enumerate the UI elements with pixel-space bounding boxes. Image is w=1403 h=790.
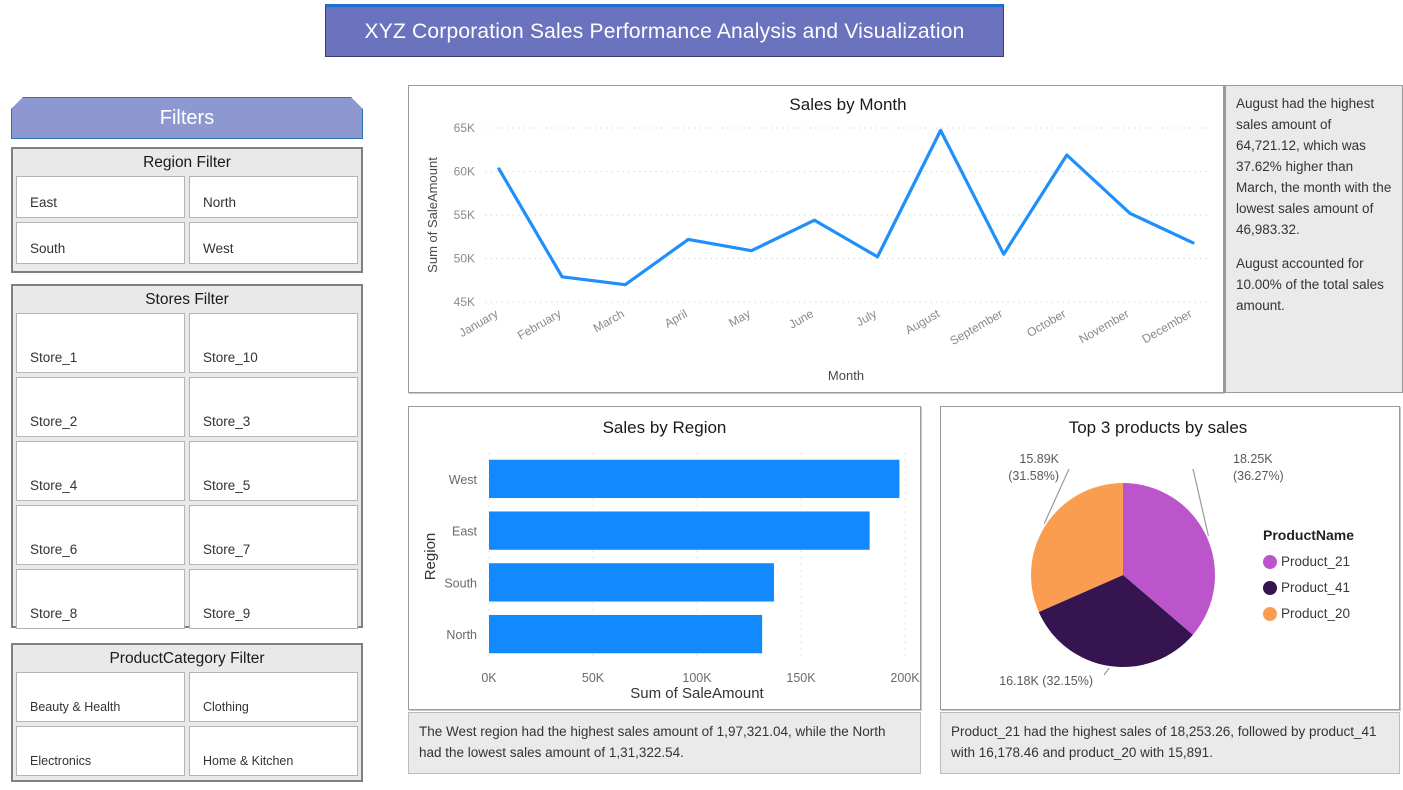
stores-filter-item-store-2[interactable]: Store_2 xyxy=(16,377,185,437)
stores-filter-panel: Stores Filter Store_1 Store_10 Store_2 S… xyxy=(11,284,363,628)
stores-filter-title: Stores Filter xyxy=(16,289,358,313)
sales-by-month-chart-panel[interactable]: Sales by Month45K50K55K60K65KJanuaryFebr… xyxy=(408,85,1224,393)
svg-text:May: May xyxy=(726,306,753,329)
sales-by-region-insight-text: The West region had the highest sales am… xyxy=(419,722,910,764)
sales-by-month-insight-paragraph-1: August had the highest sales amount of 6… xyxy=(1236,94,1392,240)
svg-text:ProductName: ProductName xyxy=(1263,527,1354,543)
svg-text:July: July xyxy=(854,306,879,329)
sales-by-month-insight-note: August had the highest sales amount of 6… xyxy=(1224,85,1403,393)
stores-filter-grid: Store_1 Store_10 Store_2 Store_3 Store_4… xyxy=(16,313,358,629)
product-category-filter-grid: Beauty & Health Clothing Electronics Hom… xyxy=(16,672,358,776)
stores-filter-item-store-4[interactable]: Store_4 xyxy=(16,441,185,501)
sales-by-region-insight-note: The West region had the highest sales am… xyxy=(408,712,921,774)
svg-text:65K: 65K xyxy=(454,121,475,135)
svg-text:East: East xyxy=(452,525,478,539)
svg-text:50K: 50K xyxy=(582,671,605,685)
svg-text:50K: 50K xyxy=(454,252,475,266)
top-products-insight-note: Product_21 had the highest sales of 18,2… xyxy=(940,712,1400,774)
svg-text:April: April xyxy=(662,306,690,330)
sales-by-month-insight-paragraph-2: August accounted for 10.00% of the total… xyxy=(1236,254,1392,317)
filters-header: Filters xyxy=(11,97,363,139)
stores-filter-item-store-5[interactable]: Store_5 xyxy=(189,441,358,501)
sales-by-region-chart-panel[interactable]: Sales by Region0K50K100K150K200KWestEast… xyxy=(408,406,921,710)
region-filter-item-south[interactable]: South xyxy=(16,222,185,264)
top-products-chart-panel[interactable]: Top 3 products by sales18.25K(36.27%)16.… xyxy=(940,406,1400,710)
product-category-filter-panel: ProductCategory Filter Beauty & Health C… xyxy=(11,643,363,782)
svg-text:150K: 150K xyxy=(786,671,816,685)
svg-text:December: December xyxy=(1140,306,1195,346)
svg-text:June: June xyxy=(786,306,816,331)
svg-text:August: August xyxy=(903,306,943,337)
sales-by-region-bar-chart[interactable]: Sales by Region0K50K100K150K200KWestEast… xyxy=(409,407,920,709)
svg-text:Product_41: Product_41 xyxy=(1281,580,1350,595)
svg-text:March: March xyxy=(591,306,627,335)
svg-text:October: October xyxy=(1024,306,1068,339)
svg-text:North: North xyxy=(446,628,477,642)
svg-text:Product_21: Product_21 xyxy=(1281,554,1350,569)
stores-filter-item-store-9[interactable]: Store_9 xyxy=(189,569,358,629)
svg-text:(31.58%): (31.58%) xyxy=(1008,469,1059,483)
stores-filter-item-store-6[interactable]: Store_6 xyxy=(16,505,185,565)
svg-text:60K: 60K xyxy=(454,165,475,179)
stores-filter-item-store-1[interactable]: Store_1 xyxy=(16,313,185,373)
top-products-insight-text: Product_21 had the highest sales of 18,2… xyxy=(951,722,1389,764)
dashboard-title-banner: XYZ Corporation Sales Performance Analys… xyxy=(325,4,1004,57)
region-filter-panel: Region Filter East North South West xyxy=(11,147,363,273)
svg-text:November: November xyxy=(1076,306,1131,346)
svg-text:15.89K: 15.89K xyxy=(1019,452,1059,466)
product-category-item-electronics[interactable]: Electronics xyxy=(16,726,185,776)
region-filter-item-west[interactable]: West xyxy=(189,222,358,264)
sales-by-month-line-chart[interactable]: Sales by Month45K50K55K60K65KJanuaryFebr… xyxy=(409,86,1223,392)
svg-text:55K: 55K xyxy=(454,208,475,222)
product-category-item-clothing[interactable]: Clothing xyxy=(189,672,358,722)
svg-text:200K: 200K xyxy=(890,671,920,685)
region-filter-grid: East North South West xyxy=(16,176,358,264)
stores-filter-item-store-3[interactable]: Store_3 xyxy=(189,377,358,437)
top-3-products-pie-chart[interactable]: Top 3 products by sales18.25K(36.27%)16.… xyxy=(941,407,1399,709)
svg-text:18.25K: 18.25K xyxy=(1233,452,1273,466)
svg-text:January: January xyxy=(457,306,501,339)
svg-text:South: South xyxy=(444,576,477,590)
svg-text:September: September xyxy=(947,306,1005,347)
page-title: XYZ Corporation Sales Performance Analys… xyxy=(365,20,965,44)
region-filter-title: Region Filter xyxy=(16,152,358,176)
svg-text:45K: 45K xyxy=(454,295,475,309)
svg-text:Sales by Region: Sales by Region xyxy=(603,418,727,437)
stores-filter-item-store-7[interactable]: Store_7 xyxy=(189,505,358,565)
stores-filter-item-store-10[interactable]: Store_10 xyxy=(189,313,358,373)
svg-text:Month: Month xyxy=(828,368,864,383)
svg-text:0K: 0K xyxy=(481,671,497,685)
svg-text:February: February xyxy=(515,306,564,342)
svg-text:Region: Region xyxy=(422,533,439,581)
product-category-filter-title: ProductCategory Filter xyxy=(16,648,358,672)
svg-text:Sales by Month: Sales by Month xyxy=(789,95,906,114)
svg-text:Sum of SaleAmount: Sum of SaleAmount xyxy=(630,685,764,702)
svg-text:(36.27%): (36.27%) xyxy=(1233,469,1284,483)
product-category-item-beauty-health[interactable]: Beauty & Health xyxy=(16,672,185,722)
svg-text:Product_20: Product_20 xyxy=(1281,606,1350,621)
filters-header-label: Filters xyxy=(160,107,214,130)
region-filter-item-north[interactable]: North xyxy=(189,176,358,218)
svg-text:Top 3 products by sales: Top 3 products by sales xyxy=(1069,418,1248,437)
svg-text:West: West xyxy=(449,473,478,487)
svg-text:16.18K (32.15%): 16.18K (32.15%) xyxy=(999,674,1093,688)
region-filter-item-east[interactable]: East xyxy=(16,176,185,218)
product-category-item-home-kitchen[interactable]: Home & Kitchen xyxy=(189,726,358,776)
svg-text:Sum of SaleAmount: Sum of SaleAmount xyxy=(425,157,440,273)
svg-text:100K: 100K xyxy=(682,671,712,685)
stores-filter-item-store-8[interactable]: Store_8 xyxy=(16,569,185,629)
